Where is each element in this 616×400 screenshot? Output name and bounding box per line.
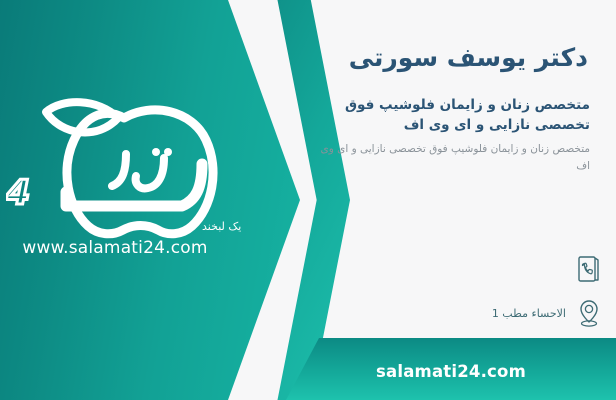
brand-dot-2 — [164, 148, 172, 156]
doctor-specialty-primary: متخصص زنان و زایمان فلوشیپ فوق تخصصی ناز… — [320, 95, 590, 137]
footer-website[interactable]: salamati24.com — [376, 358, 526, 381]
contact-row-phone[interactable] — [346, 250, 606, 288]
footer-bar: salamati24.com — [286, 338, 616, 400]
contact-list: الاحساء مطب 1 — [346, 250, 606, 338]
brand-dot-1 — [152, 148, 160, 156]
logo-tagline: براحتی یک لبخند — [202, 220, 242, 233]
map-pin-icon — [572, 294, 606, 332]
doctor-profile-card: 24 براحتی یک لبخند www.salamati24.com دک… — [0, 0, 616, 400]
logo-website-url[interactable]: www.salamati24.com — [6, 238, 224, 258]
salamati24-logo[interactable]: 24 براحتی یک لبخند www.salamati24.com — [6, 96, 242, 276]
phone-book-icon — [572, 250, 606, 288]
contact-address-label: الاحساء مطب 1 — [486, 307, 572, 320]
contact-row-address[interactable]: الاحساء مطب 1 — [346, 294, 606, 332]
badge-number-text: 24 — [6, 173, 30, 213]
logo-badge-24: 24 — [6, 173, 30, 213]
doctor-specialty-secondary: متخصص زنان و زایمان فلوشیپ فوق تخصصی ناز… — [320, 141, 590, 175]
brand-wordmark-stroke-3 — [112, 154, 126, 186]
brand-wordmark-stroke-2 — [136, 158, 164, 188]
apple-logo-icon: 24 براحتی یک لبخند — [6, 96, 242, 246]
doctor-name: دکتر یوسف سورتی — [320, 42, 588, 75]
